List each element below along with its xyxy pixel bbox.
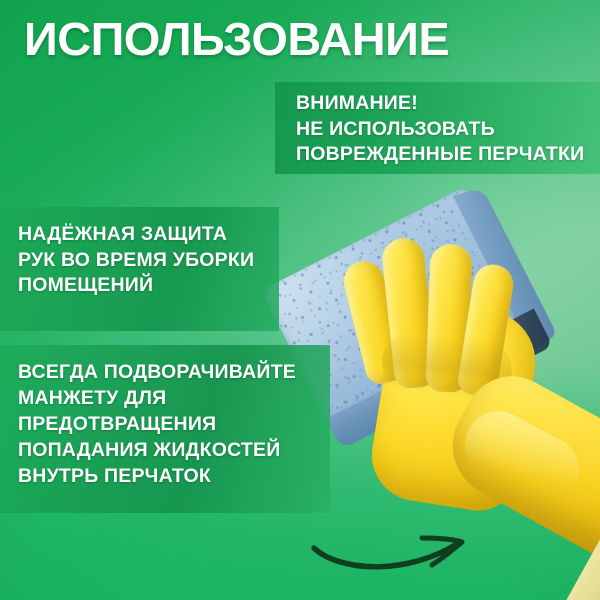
panel-warning: ВНИМАНИЕ! НЕ ИСПОЛЬЗОВАТЬ ПОВРЕЖДЕННЫЕ П… [275,82,600,174]
panel-warning-line-2: НЕ ИСПОЛЬЗОВАТЬ [296,117,600,143]
panel-cuff-line-1: ВСЕГДА ПОДВОРАЧИВАЙТЕ [18,359,330,385]
page-title: ИСПОЛЬЗОВАНИЕ [24,12,449,66]
panel-protection-line-3: ПОМЕЩЕНИЙ [18,273,279,299]
panel-cuff-line-3: ПРЕДОТВРАЩЕНИЯ [18,411,330,437]
panel-protection-line-2: РУК ВО ВРЕМЯ УБОРКИ [18,248,279,274]
infographic-poster: ИСПОЛЬЗОВАНИЕ ВНИМАНИЕ! НЕ ИСПОЛЬЗОВАТЬ … [0,0,600,600]
panel-protection: НАДЁЖНАЯ ЗАЩИТА РУК ВО ВРЕМЯ УБОРКИ ПОМЕ… [0,207,279,331]
panel-cuff-line-5: ВНУТРЬ ПЕРЧАТОК [18,463,330,489]
panel-warning-line-1: ВНИМАНИЕ! [296,91,600,117]
panel-cuff-line-2: МАНЖЕТУ ДЛЯ [18,385,330,411]
panel-protection-line-1: НАДЁЖНАЯ ЗАЩИТА [18,222,279,248]
panel-cuff-line-4: ПОПАДАНИЯ ЖИДКОСТЕЙ [18,437,330,463]
panel-cuff-instruction: ВСЕГДА ПОДВОРАЧИВАЙТЕ МАНЖЕТУ ДЛЯ ПРЕДОТ… [0,345,330,513]
panel-warning-line-3: ПОВРЕЖДЕННЫЕ ПЕРЧАТКИ [296,142,600,168]
